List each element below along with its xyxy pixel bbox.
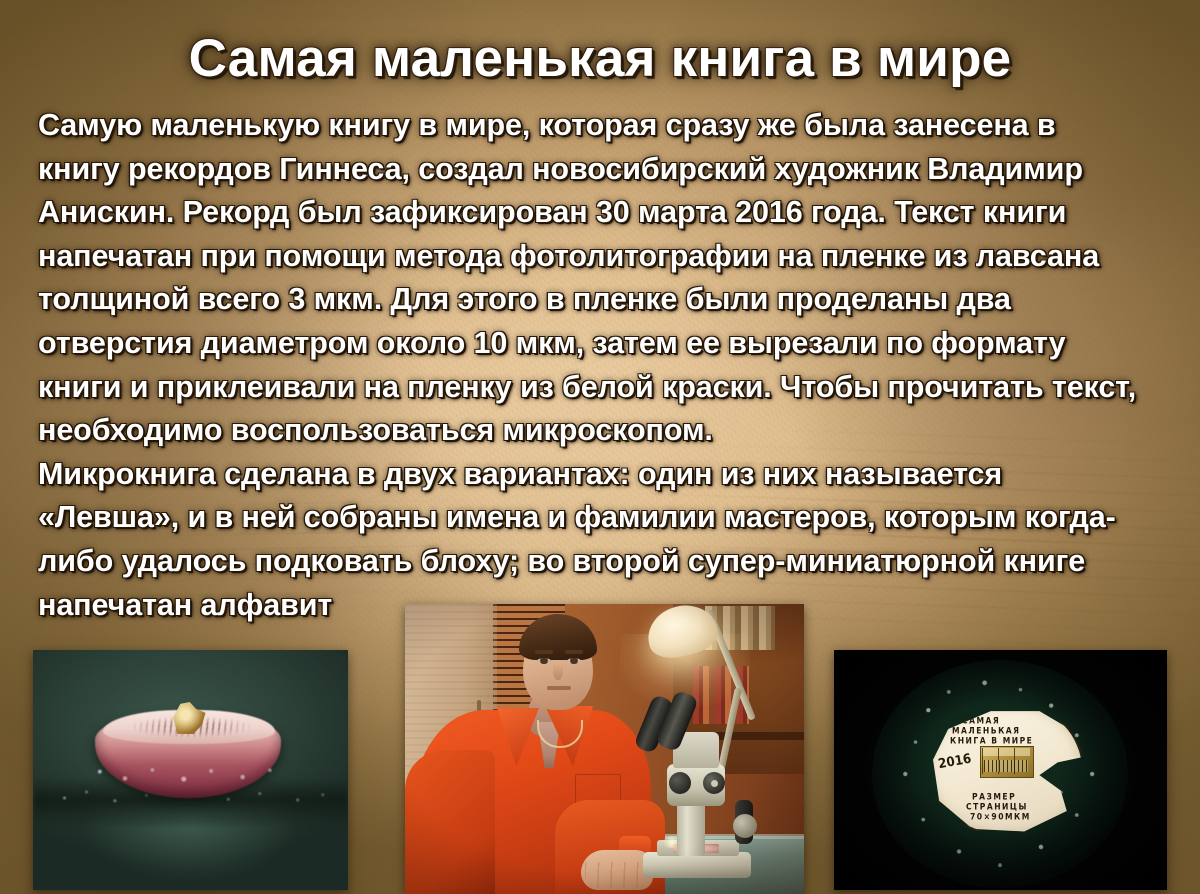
article-body: Самую маленькую книгу в мире, которая ср…	[38, 104, 1174, 627]
poster-canvas: Самая маленькая книга в мире Самую мален…	[0, 0, 1200, 894]
body-line: необходимо воспользоваться микроскопом.	[38, 409, 1174, 453]
body-line: Микрокнига сделана в двух вариантах: оди…	[38, 453, 1174, 497]
body-line: Анискин. Рекорд был зафиксирован 30 март…	[38, 191, 1174, 235]
photo-left-grit	[83, 758, 293, 792]
photo-center-vignette	[405, 604, 804, 894]
micro-book-on-pink-slab-photo	[33, 650, 348, 890]
body-line: отверстия диаметром около 10 мкм, затем …	[38, 322, 1174, 366]
body-line: книгу рекордов Гиннеса, создал новосибир…	[38, 148, 1174, 192]
body-line: Самую маленькую книгу в мире, которая ср…	[38, 104, 1174, 148]
body-line: «Левша», и в ней собраны имена и фамилии…	[38, 496, 1174, 540]
page-title: Самая маленькая книга в мире	[0, 28, 1200, 90]
body-line: толщиной всего 3 мкм. Для этого в пленке…	[38, 278, 1174, 322]
vladimir-aniskin-with-microscope-photo	[405, 604, 804, 894]
body-line: книги и приклеивали на пленку из белой к…	[38, 366, 1174, 410]
photo-right-vignette	[834, 650, 1167, 890]
body-line: напечатан при помощи метода фотолитограф…	[38, 235, 1174, 279]
body-line: либо удалось подковать блоху; во второй …	[38, 540, 1174, 584]
micro-book-inscription-photo: САМАЯ МАЛЕНЬКАЯ КНИГА В МИРЕ 2016 РАЗМЕР…	[834, 650, 1167, 890]
